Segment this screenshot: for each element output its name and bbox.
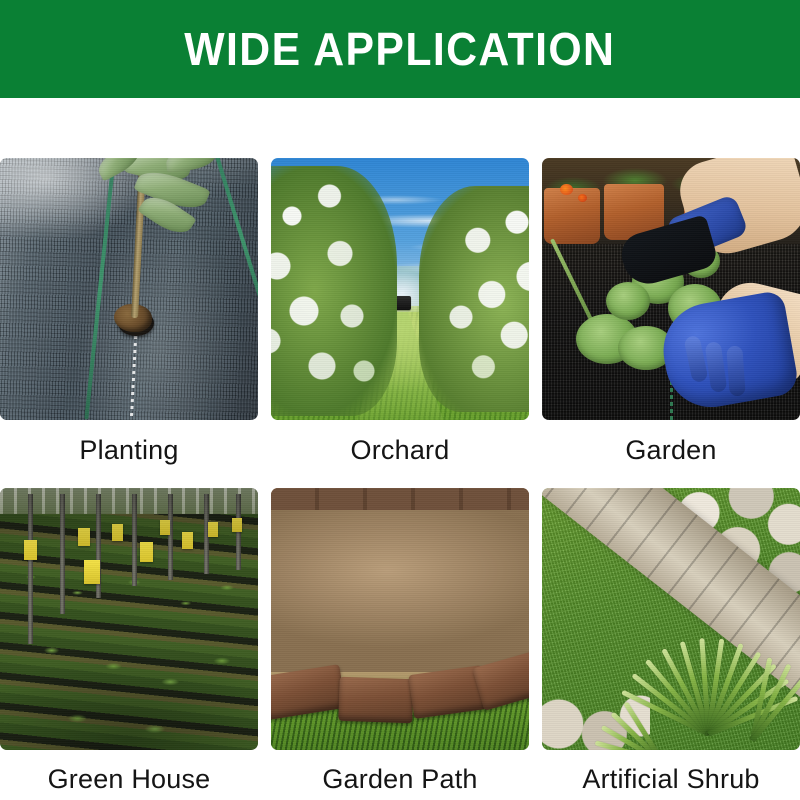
gallery-row: Green House Garden Path — [0, 488, 800, 793]
application-gallery: Planting Orchard — [0, 98, 800, 793]
gallery-item-garden-path[interactable]: Garden Path — [271, 488, 529, 793]
photo-green-house[interactable] — [0, 488, 258, 750]
photo-artificial-shrub[interactable] — [542, 488, 800, 750]
photo-orchard[interactable] — [271, 158, 529, 420]
edging-stone — [338, 677, 413, 724]
caption-planting: Planting — [0, 420, 258, 464]
orange-flower — [578, 194, 587, 202]
fabric-highlight — [0, 158, 258, 420]
yucca-plant — [620, 580, 800, 750]
photo-garden[interactable] — [542, 158, 800, 420]
gallery-item-planting[interactable]: Planting — [0, 158, 258, 464]
edging-stone — [271, 664, 346, 720]
pebble-shading — [271, 488, 529, 672]
plant-leaf — [606, 282, 650, 320]
blossom-tree-row-left — [271, 166, 397, 416]
depth-shading — [0, 488, 258, 750]
gallery-item-green-house[interactable]: Green House — [0, 488, 258, 793]
header-banner: WIDE APPLICATION — [0, 0, 800, 98]
caption-garden: Garden — [542, 420, 800, 464]
gallery-row: Planting Orchard — [0, 158, 800, 464]
caption-garden-path: Garden Path — [271, 750, 529, 793]
glove-finger — [726, 346, 745, 397]
top-edging-stones — [271, 488, 529, 510]
gallery-item-artificial-shrub[interactable]: Artificial Shrub — [542, 488, 800, 793]
caption-orchard: Orchard — [271, 420, 529, 464]
orange-flower — [560, 184, 573, 195]
gallery-item-garden[interactable]: Garden — [542, 158, 800, 464]
photo-planting[interactable] — [0, 158, 258, 420]
page-title: WIDE APPLICATION — [184, 26, 615, 72]
photo-garden-path[interactable] — [271, 488, 529, 750]
gallery-item-orchard[interactable]: Orchard — [271, 158, 529, 464]
edging-stone-row — [271, 656, 529, 712]
edging-stone — [472, 649, 529, 711]
blossom-tree-row-right — [419, 186, 529, 412]
caption-artificial-shrub: Artificial Shrub — [542, 750, 800, 793]
caption-green-house: Green House — [0, 750, 258, 793]
